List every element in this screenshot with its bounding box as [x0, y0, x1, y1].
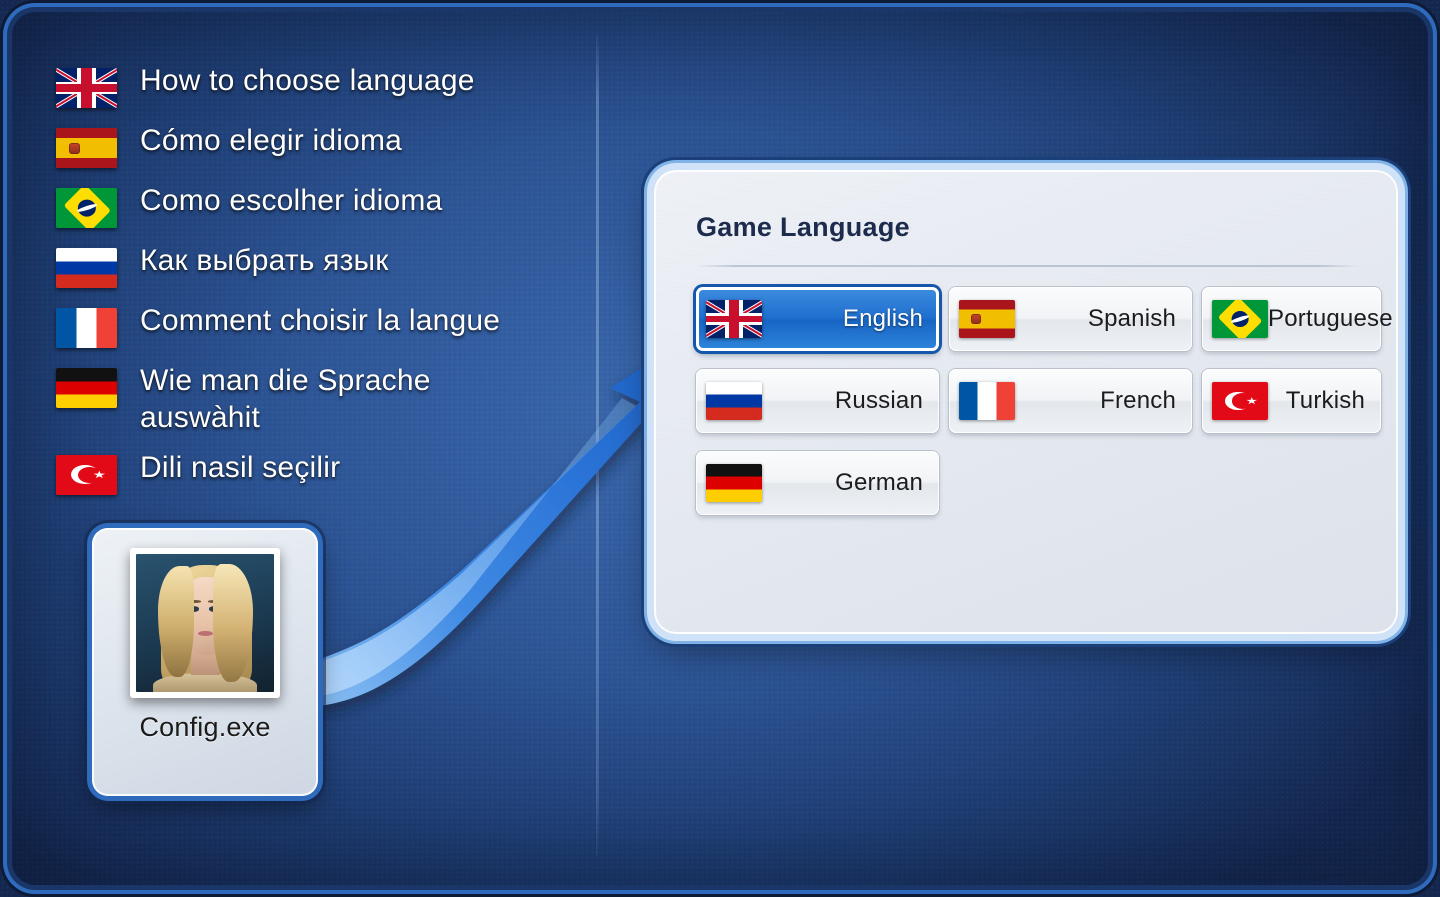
config-exe-desktop-icon[interactable]: Config.exe [92, 528, 318, 796]
spain-flag-icon [959, 300, 1015, 338]
language-button-french[interactable]: French [949, 369, 1192, 433]
instruction-row: Como escolher idioma [56, 182, 556, 230]
instruction-row: Wie man die Sprache auswàhit [56, 362, 556, 437]
instruction-row: Как выбрать язык [56, 242, 556, 290]
dialog-title: Game Language [696, 212, 1358, 243]
game-language-dialog: Game Language EnglishSpanishPortugueseRu… [654, 170, 1398, 634]
language-button-german[interactable]: German [696, 451, 939, 515]
germany-flag-icon [706, 464, 762, 502]
language-button-label: German [762, 469, 923, 497]
instruction-label: Wie man die Sprache auswàhit [140, 362, 556, 437]
dialog-divider [696, 265, 1358, 267]
language-button-spanish[interactable]: Spanish [949, 287, 1192, 351]
instruction-label: Cómo elegir idioma [140, 122, 402, 160]
instruction-label: Как выбрать язык [140, 242, 389, 280]
vertical-divider [596, 34, 599, 856]
language-button-grid: EnglishSpanishPortugueseRussianFrenchTur… [696, 287, 1358, 529]
language-button-turkish[interactable]: Turkish [1202, 369, 1381, 433]
germany-flag-icon [56, 368, 117, 408]
language-button-label: Russian [762, 387, 923, 415]
language-button-label: French [1015, 387, 1176, 415]
russia-flag-icon [706, 382, 762, 420]
spain-flag-icon [56, 128, 117, 168]
instruction-label: Dili nasil seçilir [140, 449, 340, 487]
instruction-list: How to choose languageCómo elegir idioma… [56, 62, 556, 509]
language-button-portuguese[interactable]: Portuguese [1202, 287, 1381, 351]
instruction-row: Cómo elegir idioma [56, 122, 556, 170]
france-flag-icon [56, 308, 117, 348]
screenshot-root: How to choose languageCómo elegir idioma… [0, 0, 1440, 897]
uk-flag-icon [56, 68, 117, 108]
language-button-label: Spanish [1015, 305, 1176, 333]
france-flag-icon [959, 382, 1015, 420]
uk-flag-icon [706, 300, 762, 338]
language-button-label: Portuguese [1268, 305, 1393, 333]
woman-portrait-thumbnail [136, 554, 274, 692]
turkey-flag-icon [56, 455, 117, 495]
russia-flag-icon [56, 248, 117, 288]
config-exe-thumbnail [130, 548, 280, 698]
instruction-row: How to choose language [56, 62, 556, 110]
language-button-label: English [762, 305, 923, 333]
instruction-label: Comment choisir la langue [140, 302, 500, 340]
instruction-row: Comment choisir la langue [56, 302, 556, 350]
turkey-flag-icon [1212, 382, 1268, 420]
brazil-flag-icon [56, 188, 117, 228]
brazil-flag-icon [1212, 300, 1268, 338]
language-button-english[interactable]: English [696, 287, 939, 351]
instruction-row: Dili nasil seçilir [56, 449, 556, 497]
config-exe-label: Config.exe [139, 712, 270, 743]
language-button-russian[interactable]: Russian [696, 369, 939, 433]
language-button-label: Turkish [1268, 387, 1365, 415]
instruction-label: How to choose language [140, 62, 475, 100]
instruction-label: Como escolher idioma [140, 182, 442, 220]
